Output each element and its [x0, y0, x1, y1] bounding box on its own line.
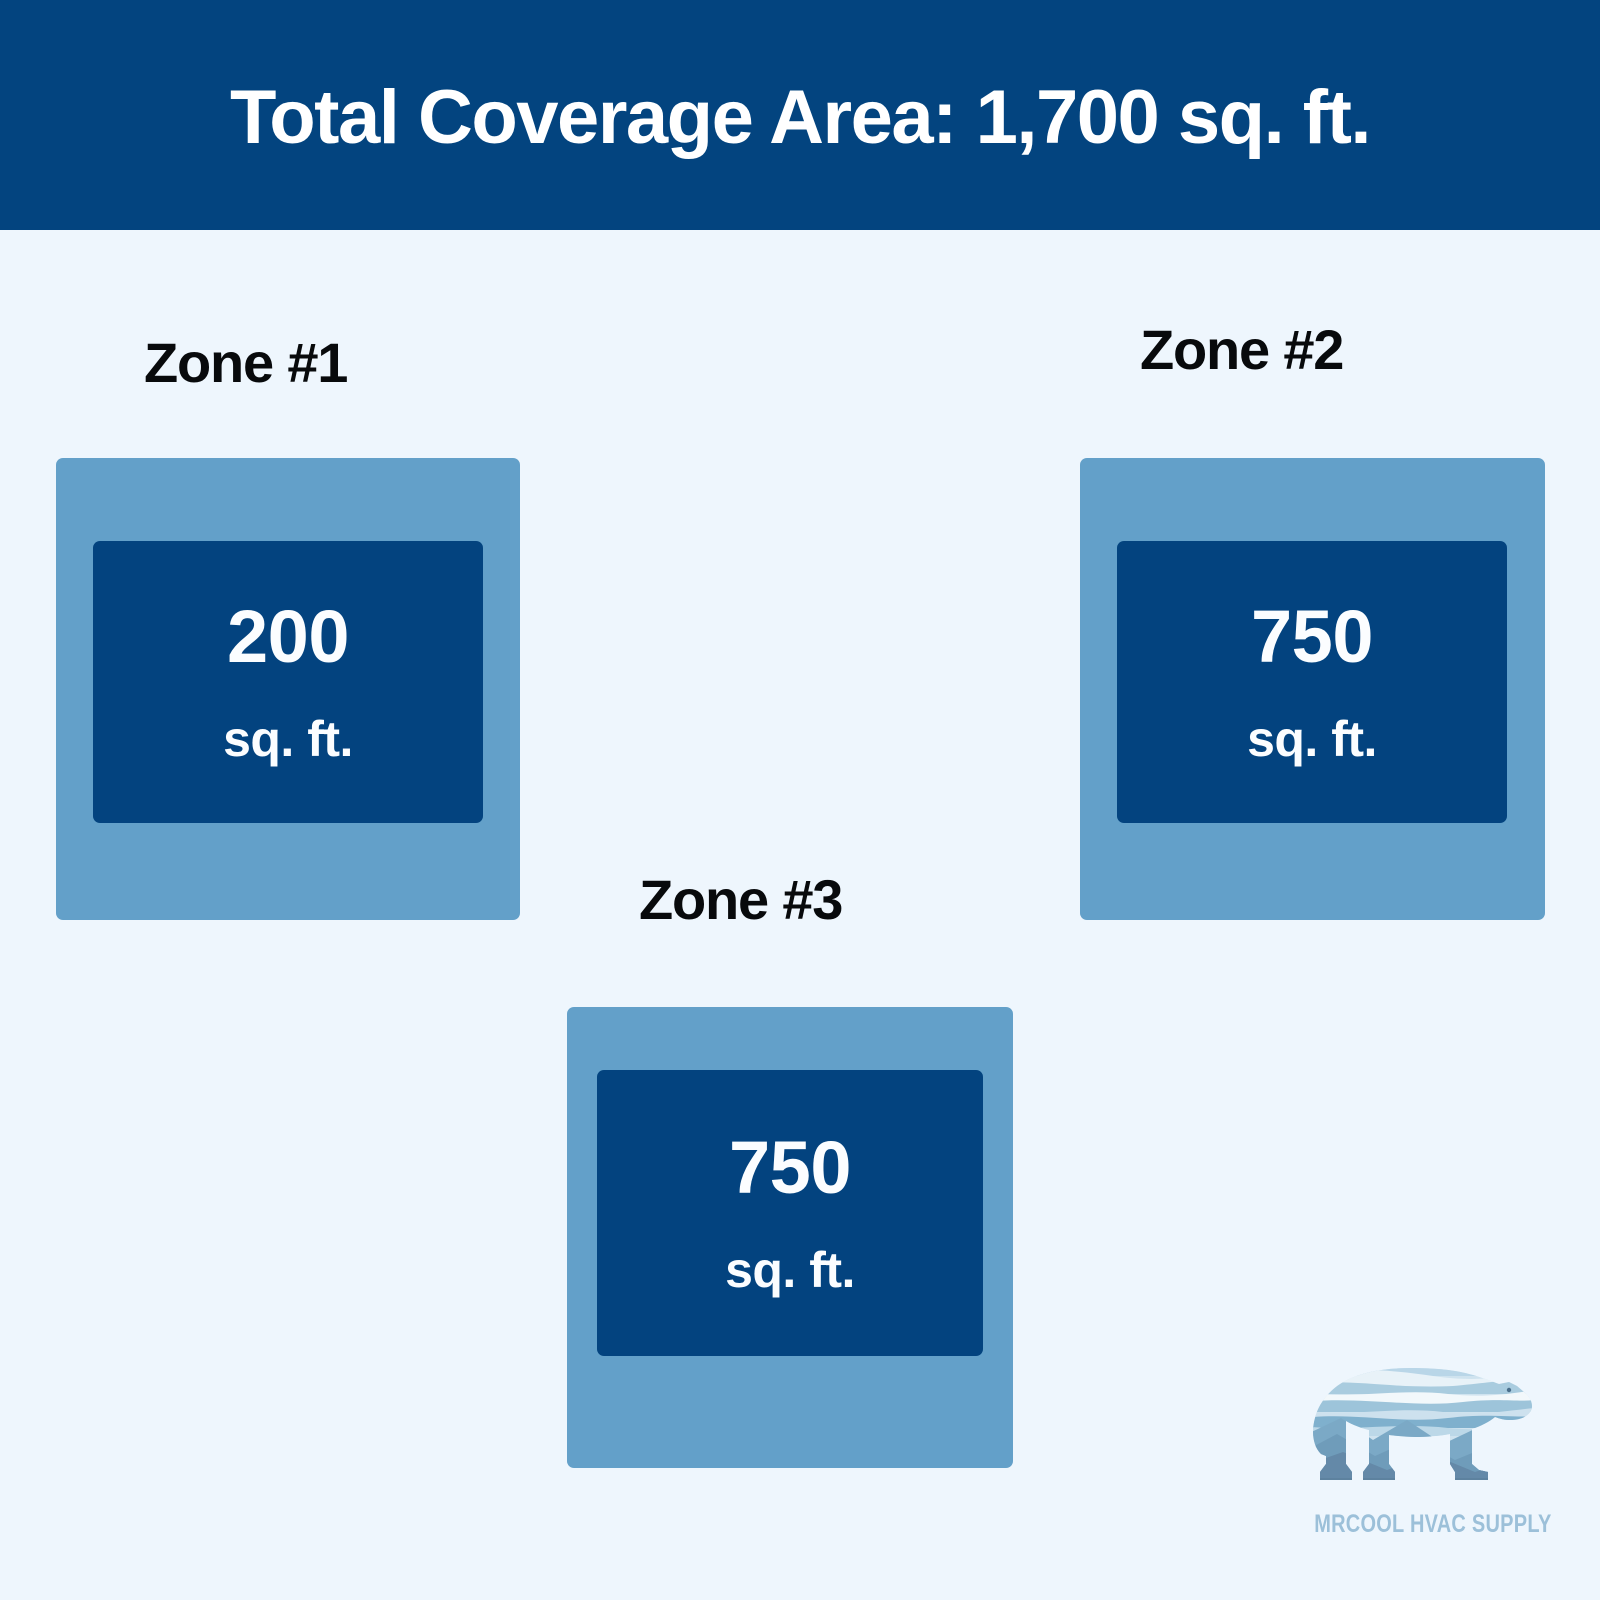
zone-3-unit: sq. ft. [725, 1245, 855, 1295]
zone-1-outer-area: 200 sq. ft. [56, 458, 520, 920]
brand-logo: MRCOOL HVAC SUPPLY [1288, 1360, 1550, 1560]
zone-3-value: 750 [729, 1131, 851, 1205]
brand-name: MRCOOL HVAC SUPPLY [1314, 1510, 1524, 1539]
page-title: Total Coverage Area: 1,700 sq. ft. [230, 78, 1370, 158]
polar-bear-icon [1303, 1360, 1535, 1502]
zone-1-value: 200 [227, 600, 349, 674]
header-banner: Total Coverage Area: 1,700 sq. ft. [0, 0, 1600, 230]
zone-2-unit: sq. ft. [1247, 714, 1377, 764]
zone-1-label: Zone #1 [144, 335, 347, 391]
bear-eye-icon [1507, 1388, 1511, 1392]
zone-3-inner-area: 750 sq. ft. [597, 1070, 983, 1356]
zone-2-inner-area: 750 sq. ft. [1117, 541, 1507, 823]
zone-3-label: Zone #3 [639, 872, 842, 928]
zone-3-outer-area: 750 sq. ft. [567, 1007, 1013, 1468]
zone-2-value: 750 [1251, 600, 1373, 674]
zone-1-inner-area: 200 sq. ft. [93, 541, 483, 823]
zone-1-unit: sq. ft. [223, 714, 353, 764]
zone-2-outer-area: 750 sq. ft. [1080, 458, 1545, 920]
zone-2-label: Zone #2 [1140, 322, 1343, 378]
